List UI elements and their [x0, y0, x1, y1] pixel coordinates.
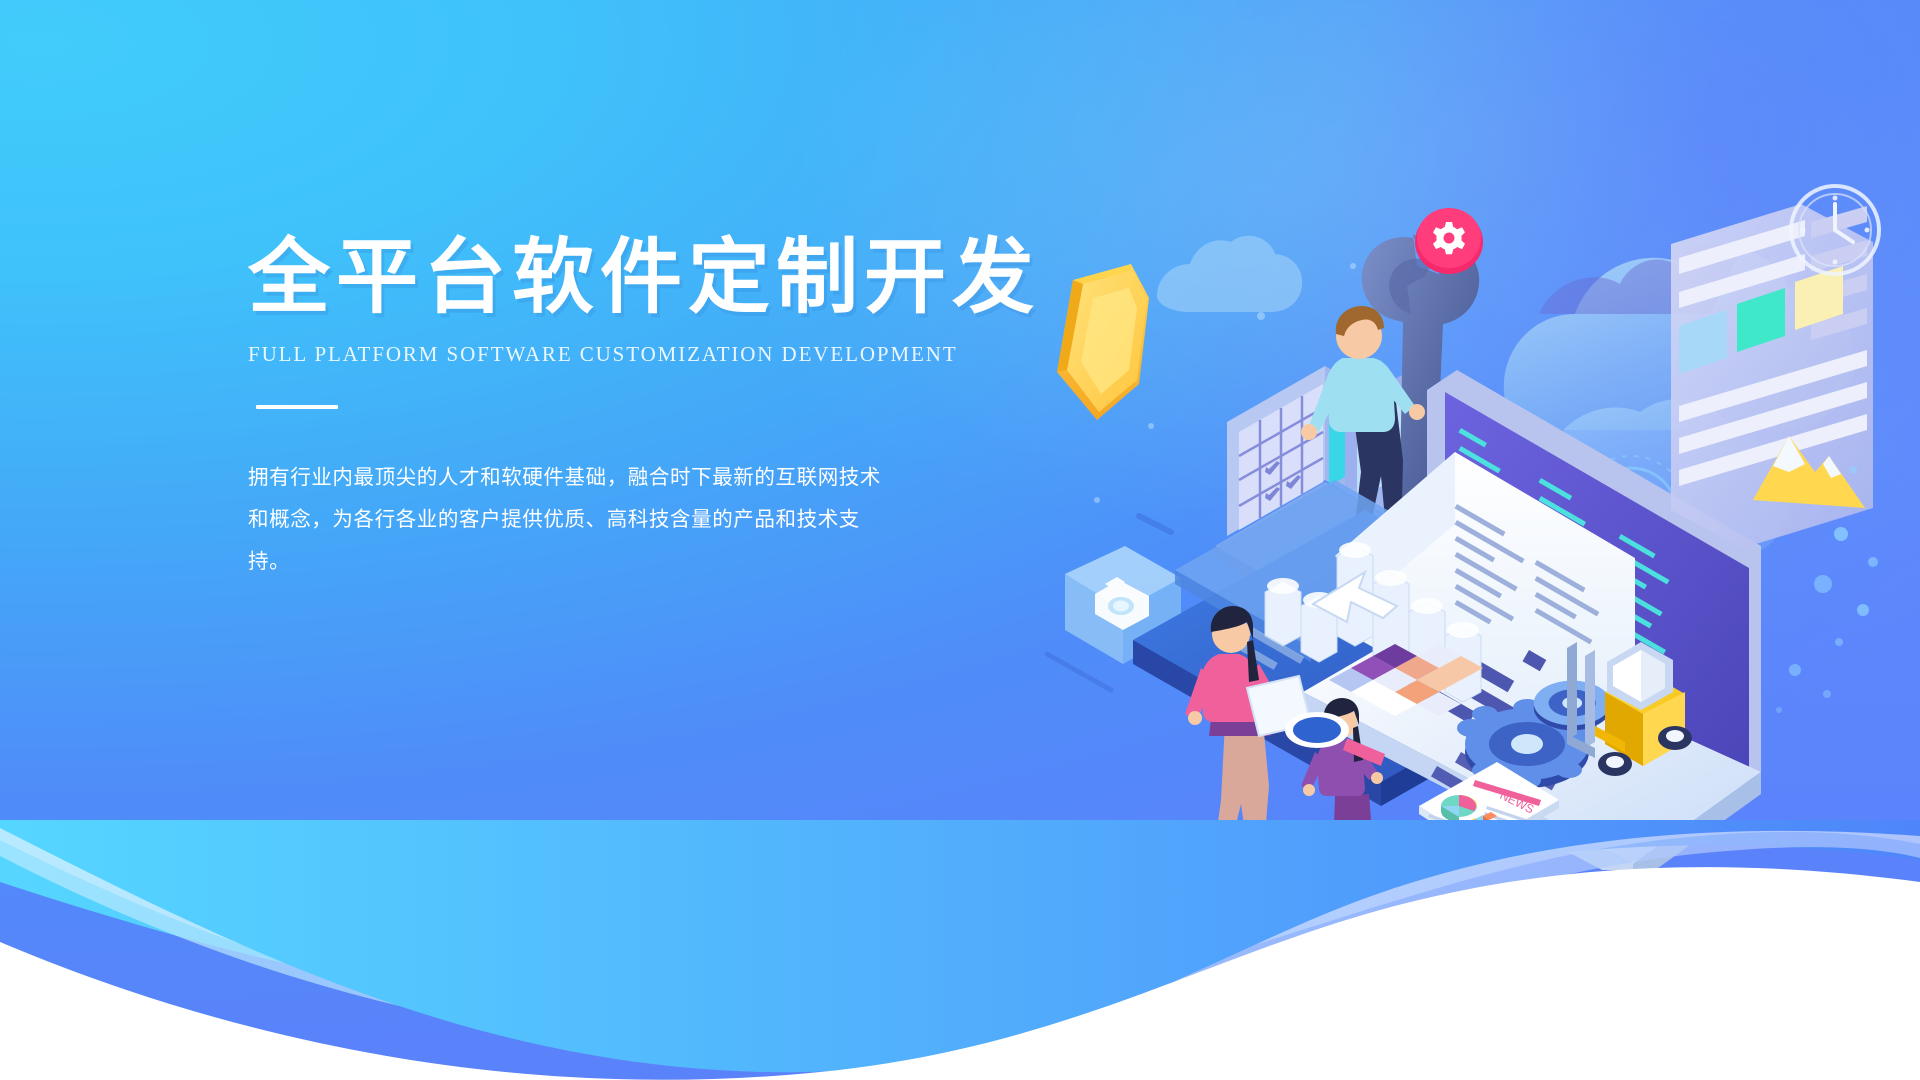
hero-banner: 全平台软件定制开发 FULL PLATFORM SOFTWARE CUSTOMI… [0, 0, 1920, 1080]
webpage-mockup [1671, 186, 1879, 548]
gear-badge-icon [1415, 208, 1483, 274]
divider [256, 405, 338, 409]
hero-description: 拥有行业内最顶尖的人才和软硬件基础，融合时下最新的互联网技术和概念，为各行各业的… [248, 457, 898, 583]
page-title: 全平台软件定制开发 [248, 236, 1068, 320]
bottom-wave-decoration [0, 820, 1920, 1080]
shield-icon [1057, 264, 1149, 420]
clock-icon [1791, 186, 1879, 274]
page-subtitle: FULL PLATFORM SOFTWARE CUSTOMIZATION DEV… [248, 342, 1068, 367]
hero-copy: 全平台软件定制开发 FULL PLATFORM SOFTWARE CUSTOMI… [248, 236, 1068, 583]
cloud-icon [1157, 236, 1302, 312]
hero-illustration: NEWS [1035, 170, 1920, 870]
